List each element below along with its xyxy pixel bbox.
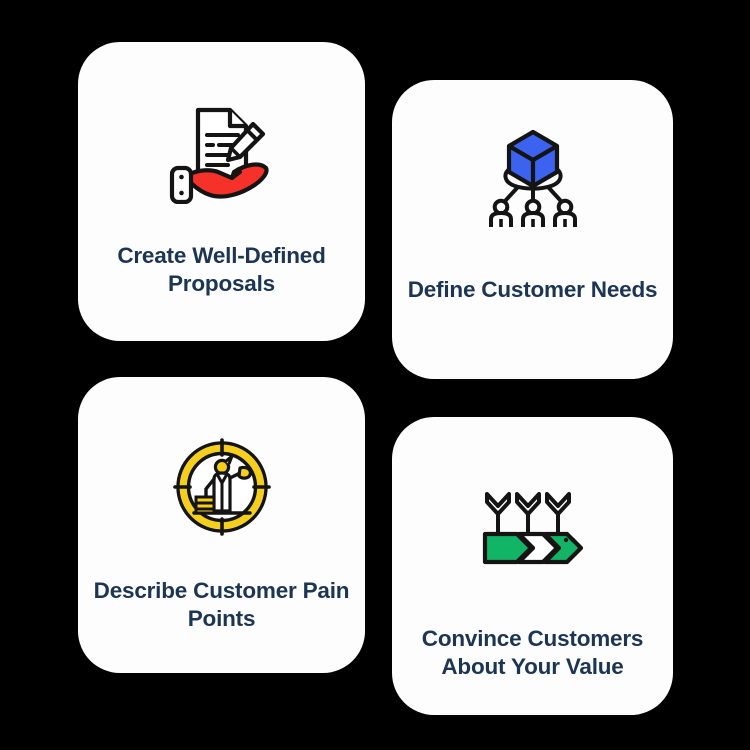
card-title: Define Customer Needs [392, 276, 673, 304]
cube-over-people-group-icon [481, 126, 585, 230]
card-convince-customers-about-your-value[interactable]: Convince Customers About Your Value [392, 417, 673, 715]
card-grid-board: Create Well-Defined Proposals [0, 0, 750, 750]
card-create-well-defined-proposals[interactable]: Create Well-Defined Proposals [78, 42, 365, 341]
document-pencil-on-hand-icon [168, 100, 276, 204]
card-describe-customer-pain-points[interactable]: Describe Customer Pain Points [78, 377, 365, 673]
card-title: Describe Customer Pain Points [78, 577, 365, 634]
target-crosshair-worker-icon [170, 435, 274, 539]
card-define-customer-needs[interactable]: Define Customer Needs [392, 80, 673, 379]
card-title: Convince Customers About Your Value [392, 625, 673, 682]
card-title: Create Well-Defined Proposals [78, 242, 365, 299]
green-arrows-with-checkmarks-icon [481, 475, 585, 579]
